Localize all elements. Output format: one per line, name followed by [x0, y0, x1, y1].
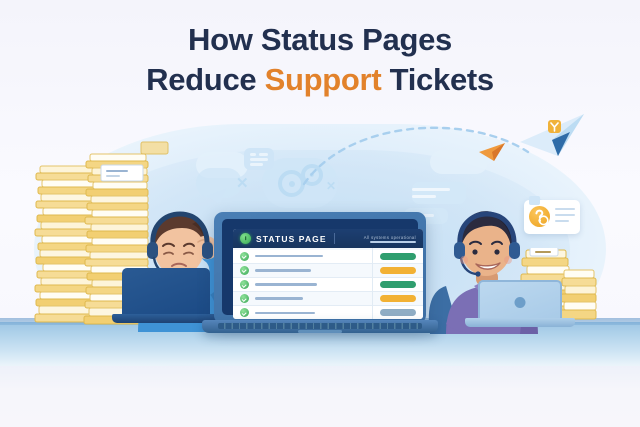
service-name-placeholder — [255, 269, 311, 272]
status-page-header: STATUS PAGE All systems operational — [233, 229, 423, 248]
card-text-line — [555, 220, 569, 222]
status-page-meta: All systems operational — [342, 235, 416, 243]
card-text-line — [555, 214, 575, 216]
column-divider — [372, 248, 373, 319]
service-name-placeholder — [255, 297, 303, 300]
status-badge — [380, 267, 416, 274]
status-row[interactable] — [233, 250, 423, 264]
status-row-list — [233, 248, 423, 319]
left-laptop — [118, 268, 214, 326]
small-arrow-icon — [206, 186, 230, 206]
header-divider — [334, 233, 335, 244]
status-page-brand: STATUS PAGE — [256, 234, 327, 244]
help-request-card — [524, 200, 580, 234]
status-row[interactable] — [233, 278, 423, 292]
right-laptop — [470, 280, 570, 328]
check-icon — [240, 294, 249, 303]
status-badge — [380, 309, 416, 316]
title-line-2: Reduce Support Tickets — [0, 62, 640, 99]
service-name-placeholder — [255, 312, 315, 315]
floating-ticket-note — [100, 162, 146, 184]
status-row[interactable] — [233, 264, 423, 278]
card-text-line — [555, 208, 575, 210]
check-icon — [240, 308, 249, 317]
status-page-meta-text: All systems operational — [364, 235, 416, 240]
meta-underline — [370, 241, 416, 243]
close-icon: ✕ — [236, 176, 249, 191]
foreground-floor — [0, 366, 640, 427]
status-badge — [380, 281, 416, 288]
small-arrow-icon — [478, 140, 508, 164]
status-page-laptop: STATUS PAGE All systems operational — [214, 212, 426, 324]
laptop-lid: STATUS PAGE All systems operational — [214, 212, 426, 324]
title-highlight: Support — [265, 62, 382, 97]
list-icon — [244, 148, 274, 170]
page-title: How Status Pages Reduce Support Tickets — [0, 22, 640, 98]
title-plain-a: Reduce — [146, 62, 265, 97]
check-icon — [240, 252, 249, 261]
title-plain-b: Tickets — [381, 62, 494, 97]
service-name-placeholder — [255, 283, 317, 286]
laptop-base — [202, 320, 438, 333]
illustration-canvas: How Status Pages Reduce Support Tickets … — [0, 0, 640, 427]
status-badge — [380, 295, 416, 302]
service-name-placeholder — [255, 255, 323, 258]
title-line-1: How Status Pages — [0, 22, 640, 59]
status-row[interactable] — [233, 306, 423, 319]
laptop-keyboard[interactable] — [218, 323, 422, 329]
check-icon — [240, 266, 249, 275]
paper-plane-icon — [518, 112, 588, 168]
card-corner-icon — [528, 195, 542, 207]
laptop-bezel: STATUS PAGE All systems operational — [222, 219, 418, 315]
status-badge — [380, 253, 416, 260]
check-icon — [240, 280, 249, 289]
operational-dot-icon — [240, 233, 251, 244]
laptop-screen: STATUS PAGE All systems operational — [233, 229, 423, 319]
question-glyph — [529, 206, 550, 227]
status-row[interactable] — [233, 292, 423, 306]
laptop-trackpad[interactable] — [298, 330, 342, 333]
floating-ticket-note — [140, 140, 170, 156]
